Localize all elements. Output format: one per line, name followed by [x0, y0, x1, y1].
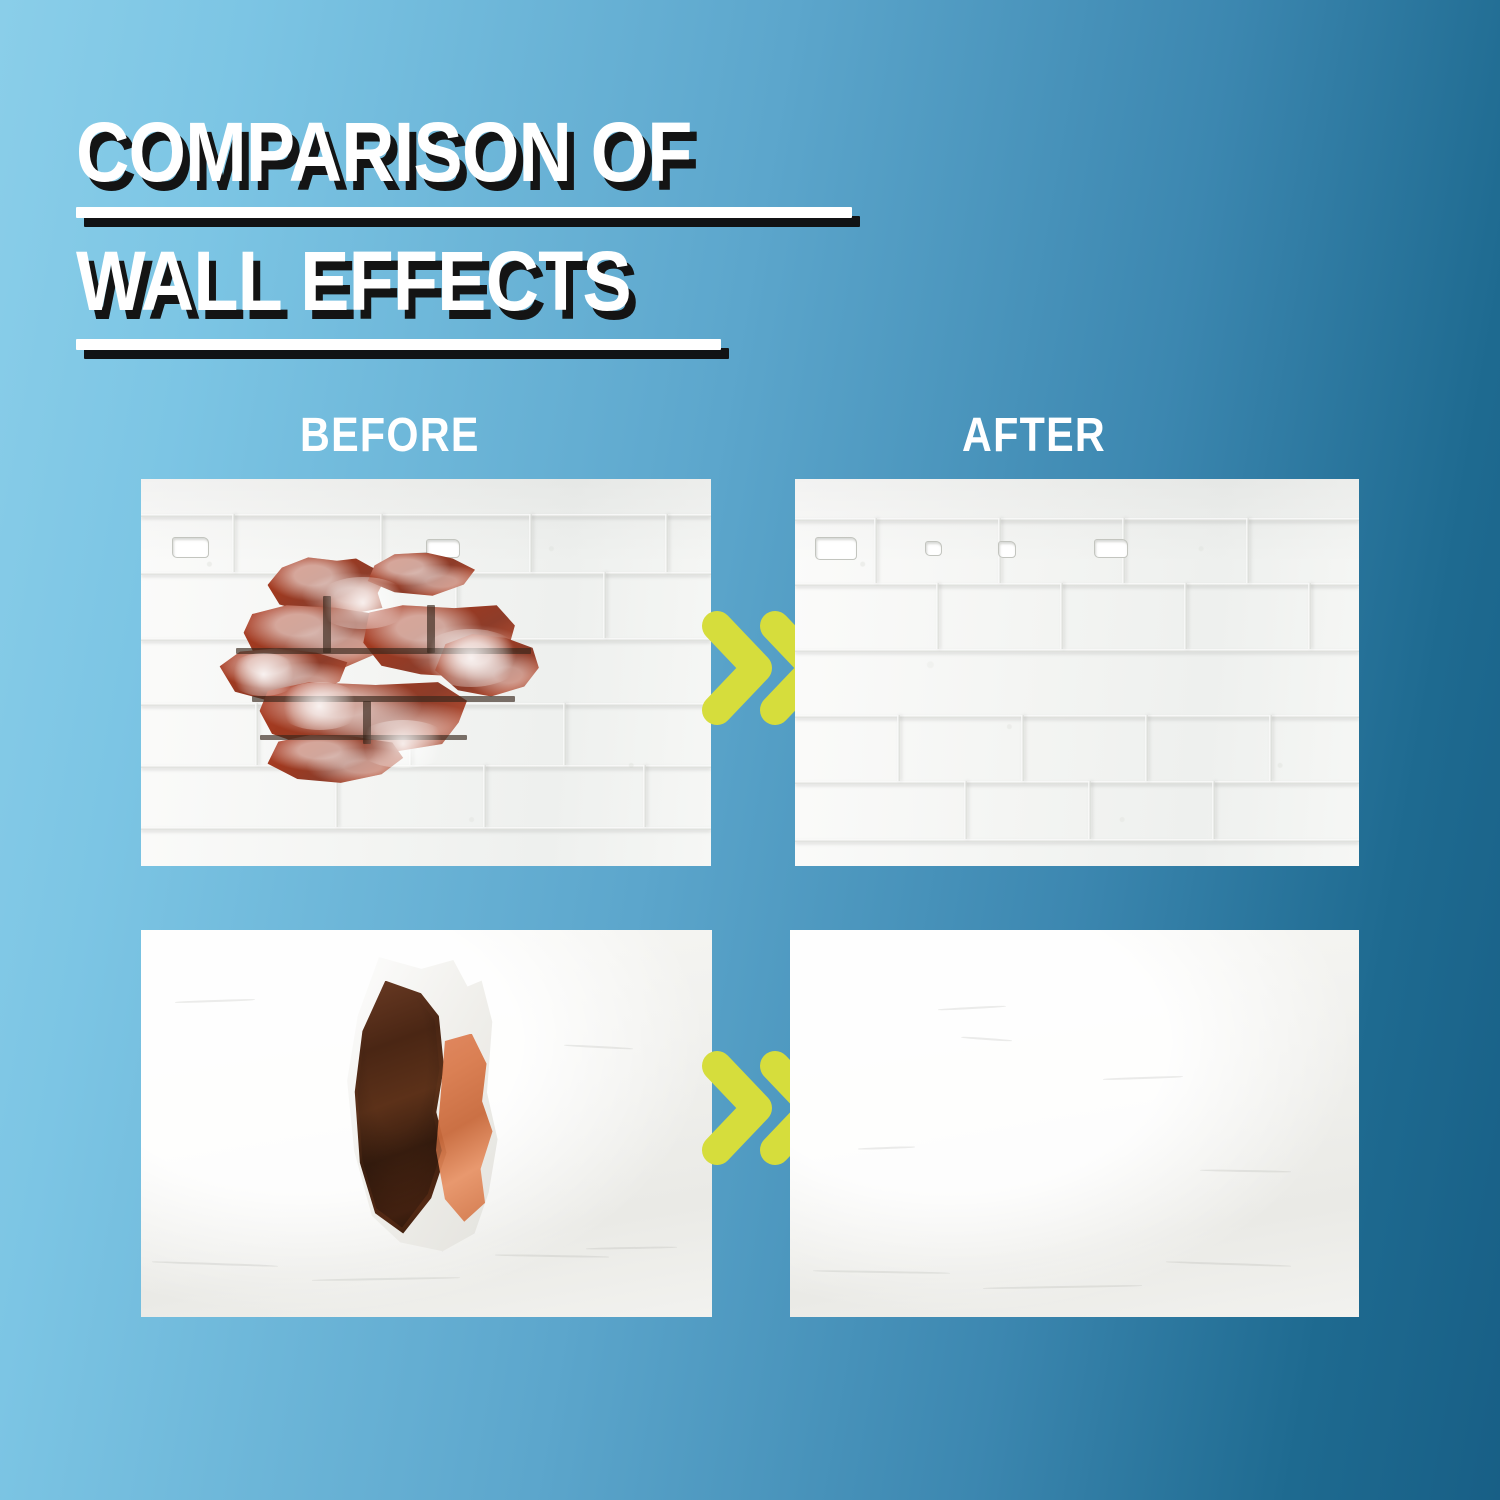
title-underline-2	[76, 339, 721, 361]
after-image-row-2	[790, 930, 1359, 1317]
page-title-line-1: COMPARISON OF	[76, 112, 759, 193]
column-label-after: AFTER	[962, 408, 1106, 463]
paint-chip-mark	[998, 541, 1016, 558]
paint-chip-mark	[815, 537, 857, 560]
title-underline-1	[76, 207, 852, 229]
after-image-row-1	[795, 479, 1359, 866]
wall-hole-damage	[329, 957, 506, 1251]
before-image-row-1	[141, 479, 711, 866]
column-label-before: BEFORE	[300, 408, 480, 463]
page-title-line-2: WALL EFFECTS	[76, 241, 759, 322]
paint-chip-mark	[925, 541, 942, 556]
paint-chip-mark	[1094, 539, 1128, 558]
paint-speckle-texture	[795, 479, 1359, 866]
title-underline-2-bar	[76, 339, 721, 350]
plaster-surface-marks	[790, 930, 1359, 1317]
title-underline-1-bar	[76, 207, 852, 218]
exposed-brick-damage-area	[204, 553, 603, 793]
page-title-block: COMPARISON OF WALL EFFECTS	[76, 112, 852, 361]
before-image-row-2	[141, 930, 712, 1317]
